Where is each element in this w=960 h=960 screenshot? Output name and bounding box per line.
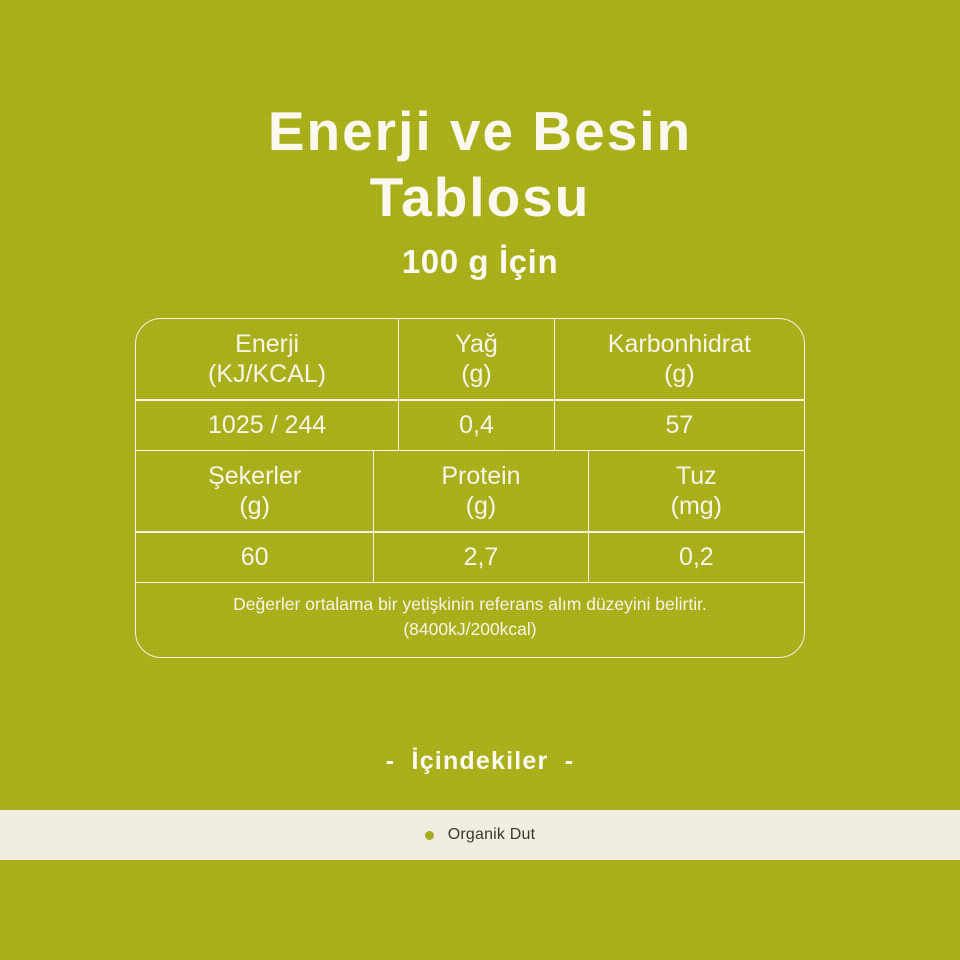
header-cell-energy: Enerji (KJ/KCAL) — [136, 319, 399, 399]
header-cell-protein: Protein (g) — [374, 451, 588, 531]
nutrient-unit: (g) — [461, 359, 492, 389]
ingredients-banner: Organik Dut — [0, 810, 960, 860]
nutrient-name: Karbonhidrat — [608, 329, 751, 359]
nutrient-unit: (g) — [239, 491, 270, 521]
nutrient-name: Şekerler — [208, 461, 301, 491]
ingredients-heading: - İçindekiler - — [0, 747, 960, 776]
value-cell-carbohydrate: 57 — [555, 401, 804, 450]
title-line-2: Tablosu — [0, 164, 960, 230]
title-line-1: Enerji ve Besin — [0, 98, 960, 164]
reference-intake-note: Değerler ortalama bir yetişkinin referan… — [136, 583, 804, 650]
page-title: Enerji ve Besin Tablosu 100 g İçin — [0, 98, 960, 282]
table-value-row: 1025 / 244 0,4 57 — [136, 401, 804, 450]
note-line-1: Değerler ortalama bir yetişkinin referan… — [233, 592, 707, 617]
nutrition-table: Enerji (KJ/KCAL) Yağ (g) Karbonhidrat (g… — [135, 318, 805, 658]
value-cell-salt: 0,2 — [589, 533, 804, 582]
value-cell-sugars: 60 — [136, 533, 374, 582]
nutrient-unit: (g) — [664, 359, 695, 389]
nutrition-section-2: Şekerler (g) Protein (g) Tuz (mg) 60 2,7… — [136, 451, 804, 582]
table-header-row: Şekerler (g) Protein (g) Tuz (mg) — [136, 451, 804, 531]
value-cell-fat: 0,4 — [399, 401, 555, 450]
value-cell-protein: 2,7 — [374, 533, 588, 582]
table-value-row: 60 2,7 0,2 — [136, 533, 804, 582]
nutrition-section-1: Enerji (KJ/KCAL) Yağ (g) Karbonhidrat (g… — [136, 319, 804, 450]
nutrient-name: Enerji — [235, 329, 299, 359]
header-cell-sugars: Şekerler (g) — [136, 451, 374, 531]
bullet-icon — [425, 831, 434, 840]
value-cell-energy: 1025 / 244 — [136, 401, 399, 450]
nutrient-unit: (g) — [466, 491, 497, 521]
header-cell-salt: Tuz (mg) — [589, 451, 804, 531]
nutrition-label-page: Enerji ve Besin Tablosu 100 g İçin Enerj… — [0, 0, 960, 960]
header-cell-carbohydrate: Karbonhidrat (g) — [555, 319, 804, 399]
serving-size-subtitle: 100 g İçin — [0, 242, 960, 282]
list-item: Organik Dut — [425, 825, 536, 845]
table-header-row: Enerji (KJ/KCAL) Yağ (g) Karbonhidrat (g… — [136, 319, 804, 399]
header-cell-fat: Yağ (g) — [399, 319, 555, 399]
ingredient-label: Organik Dut — [448, 825, 536, 845]
nutrient-unit: (KJ/KCAL) — [208, 359, 326, 389]
nutrient-name: Tuz — [676, 461, 717, 491]
nutrient-name: Protein — [441, 461, 520, 491]
note-line-2: (8400kJ/200kcal) — [403, 617, 536, 642]
nutrient-unit: (mg) — [671, 491, 722, 521]
nutrient-name: Yağ — [455, 329, 498, 359]
